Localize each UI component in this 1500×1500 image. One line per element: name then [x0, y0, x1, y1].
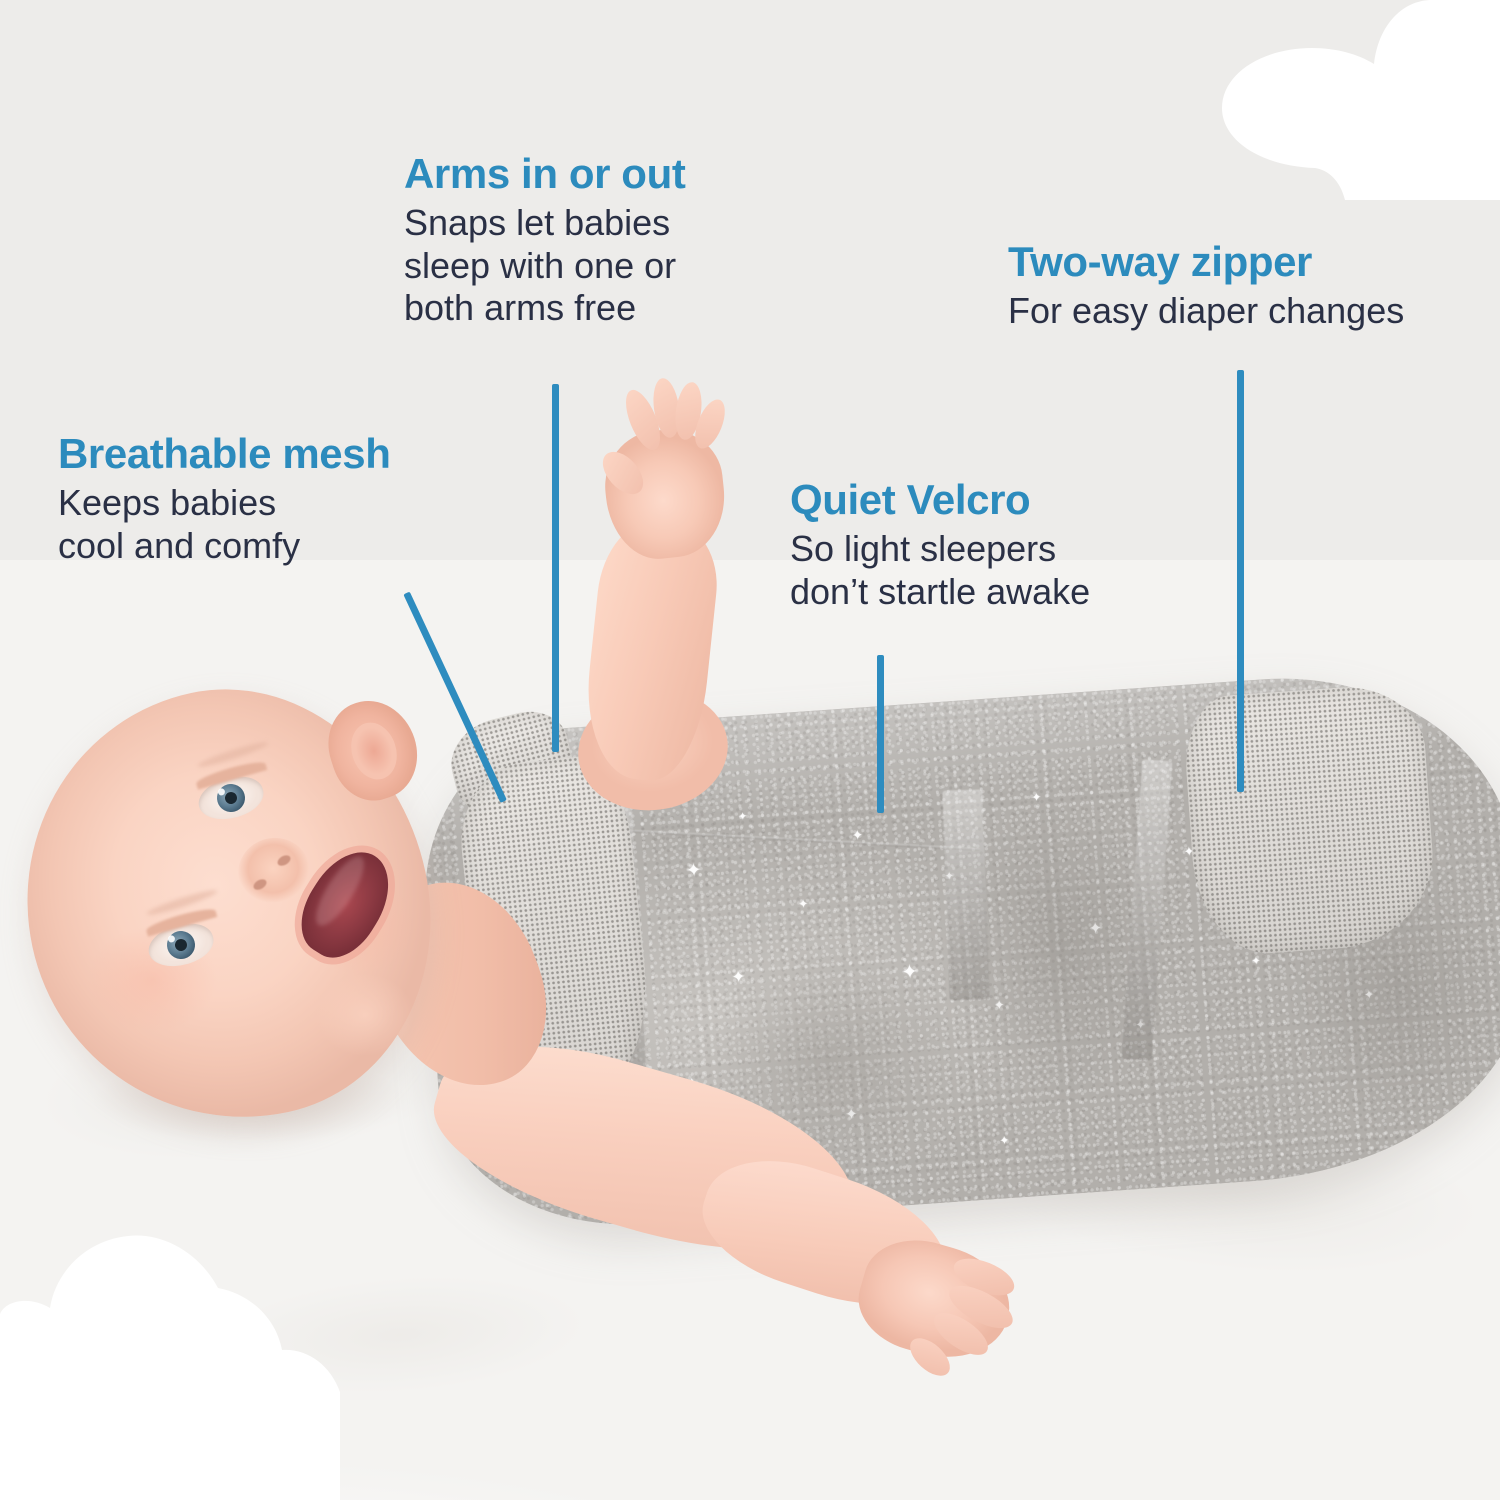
infographic-canvas: ✦ ✦ ✦ ✦ ✦ ✦ ✦ ✦ ✦ ✦ ✦ ✦ ✦ ✦ ✦ ✦ ✦ ✦ ✦ ✦ … — [0, 0, 1500, 1500]
callout-two-way-zipper: Two-way zipper For easy diaper changes — [1008, 240, 1404, 333]
callout-body-quiet-velcro: So light sleepers don’t startle awake — [790, 528, 1090, 613]
callout-body-line: don’t startle awake — [790, 571, 1090, 613]
mesh-panel-hip — [1181, 682, 1439, 958]
leader-line-quiet-velcro — [877, 655, 884, 813]
callout-body-line: both arms free — [404, 287, 685, 329]
callout-body-line: sleep with one or — [404, 245, 685, 287]
callout-title-two-way-zipper: Two-way zipper — [1008, 240, 1404, 284]
callout-body-line: cool and comfy — [58, 525, 390, 567]
callout-body-line: So light sleepers — [790, 528, 1090, 570]
callout-quiet-velcro: Quiet Velcro So light sleepers don’t sta… — [790, 478, 1090, 613]
callout-body-two-way-zipper: For easy diaper changes — [1008, 290, 1404, 332]
fabric-fold — [960, 800, 1160, 1100]
callout-title-arms-in-or-out: Arms in or out — [404, 152, 685, 196]
callout-body-line: Snaps let babies — [404, 202, 685, 244]
callout-body-arms-in-or-out: Snaps let babies sleep with one or both … — [404, 202, 685, 329]
leader-line-arms-in-or-out — [552, 384, 559, 752]
callout-arms-in-or-out: Arms in or out Snaps let babies sleep wi… — [404, 152, 685, 330]
sheet-fold — [134, 1217, 667, 1453]
callout-body-line: For easy diaper changes — [1008, 290, 1404, 332]
callout-breathable-mesh: Breathable mesh Keeps babies cool and co… — [58, 432, 390, 567]
callout-body-breathable-mesh: Keeps babies cool and comfy — [58, 482, 390, 567]
product-photo: ✦ ✦ ✦ ✦ ✦ ✦ ✦ ✦ ✦ ✦ ✦ ✦ ✦ ✦ ✦ ✦ ✦ ✦ ✦ ✦ … — [0, 0, 1500, 1500]
baby-chin — [300, 960, 430, 1070]
callout-title-quiet-velcro: Quiet Velcro — [790, 478, 1090, 522]
leader-line-two-way-zipper — [1237, 370, 1244, 792]
callout-body-line: Keeps babies — [58, 482, 390, 524]
callout-title-breathable-mesh: Breathable mesh — [58, 432, 390, 476]
